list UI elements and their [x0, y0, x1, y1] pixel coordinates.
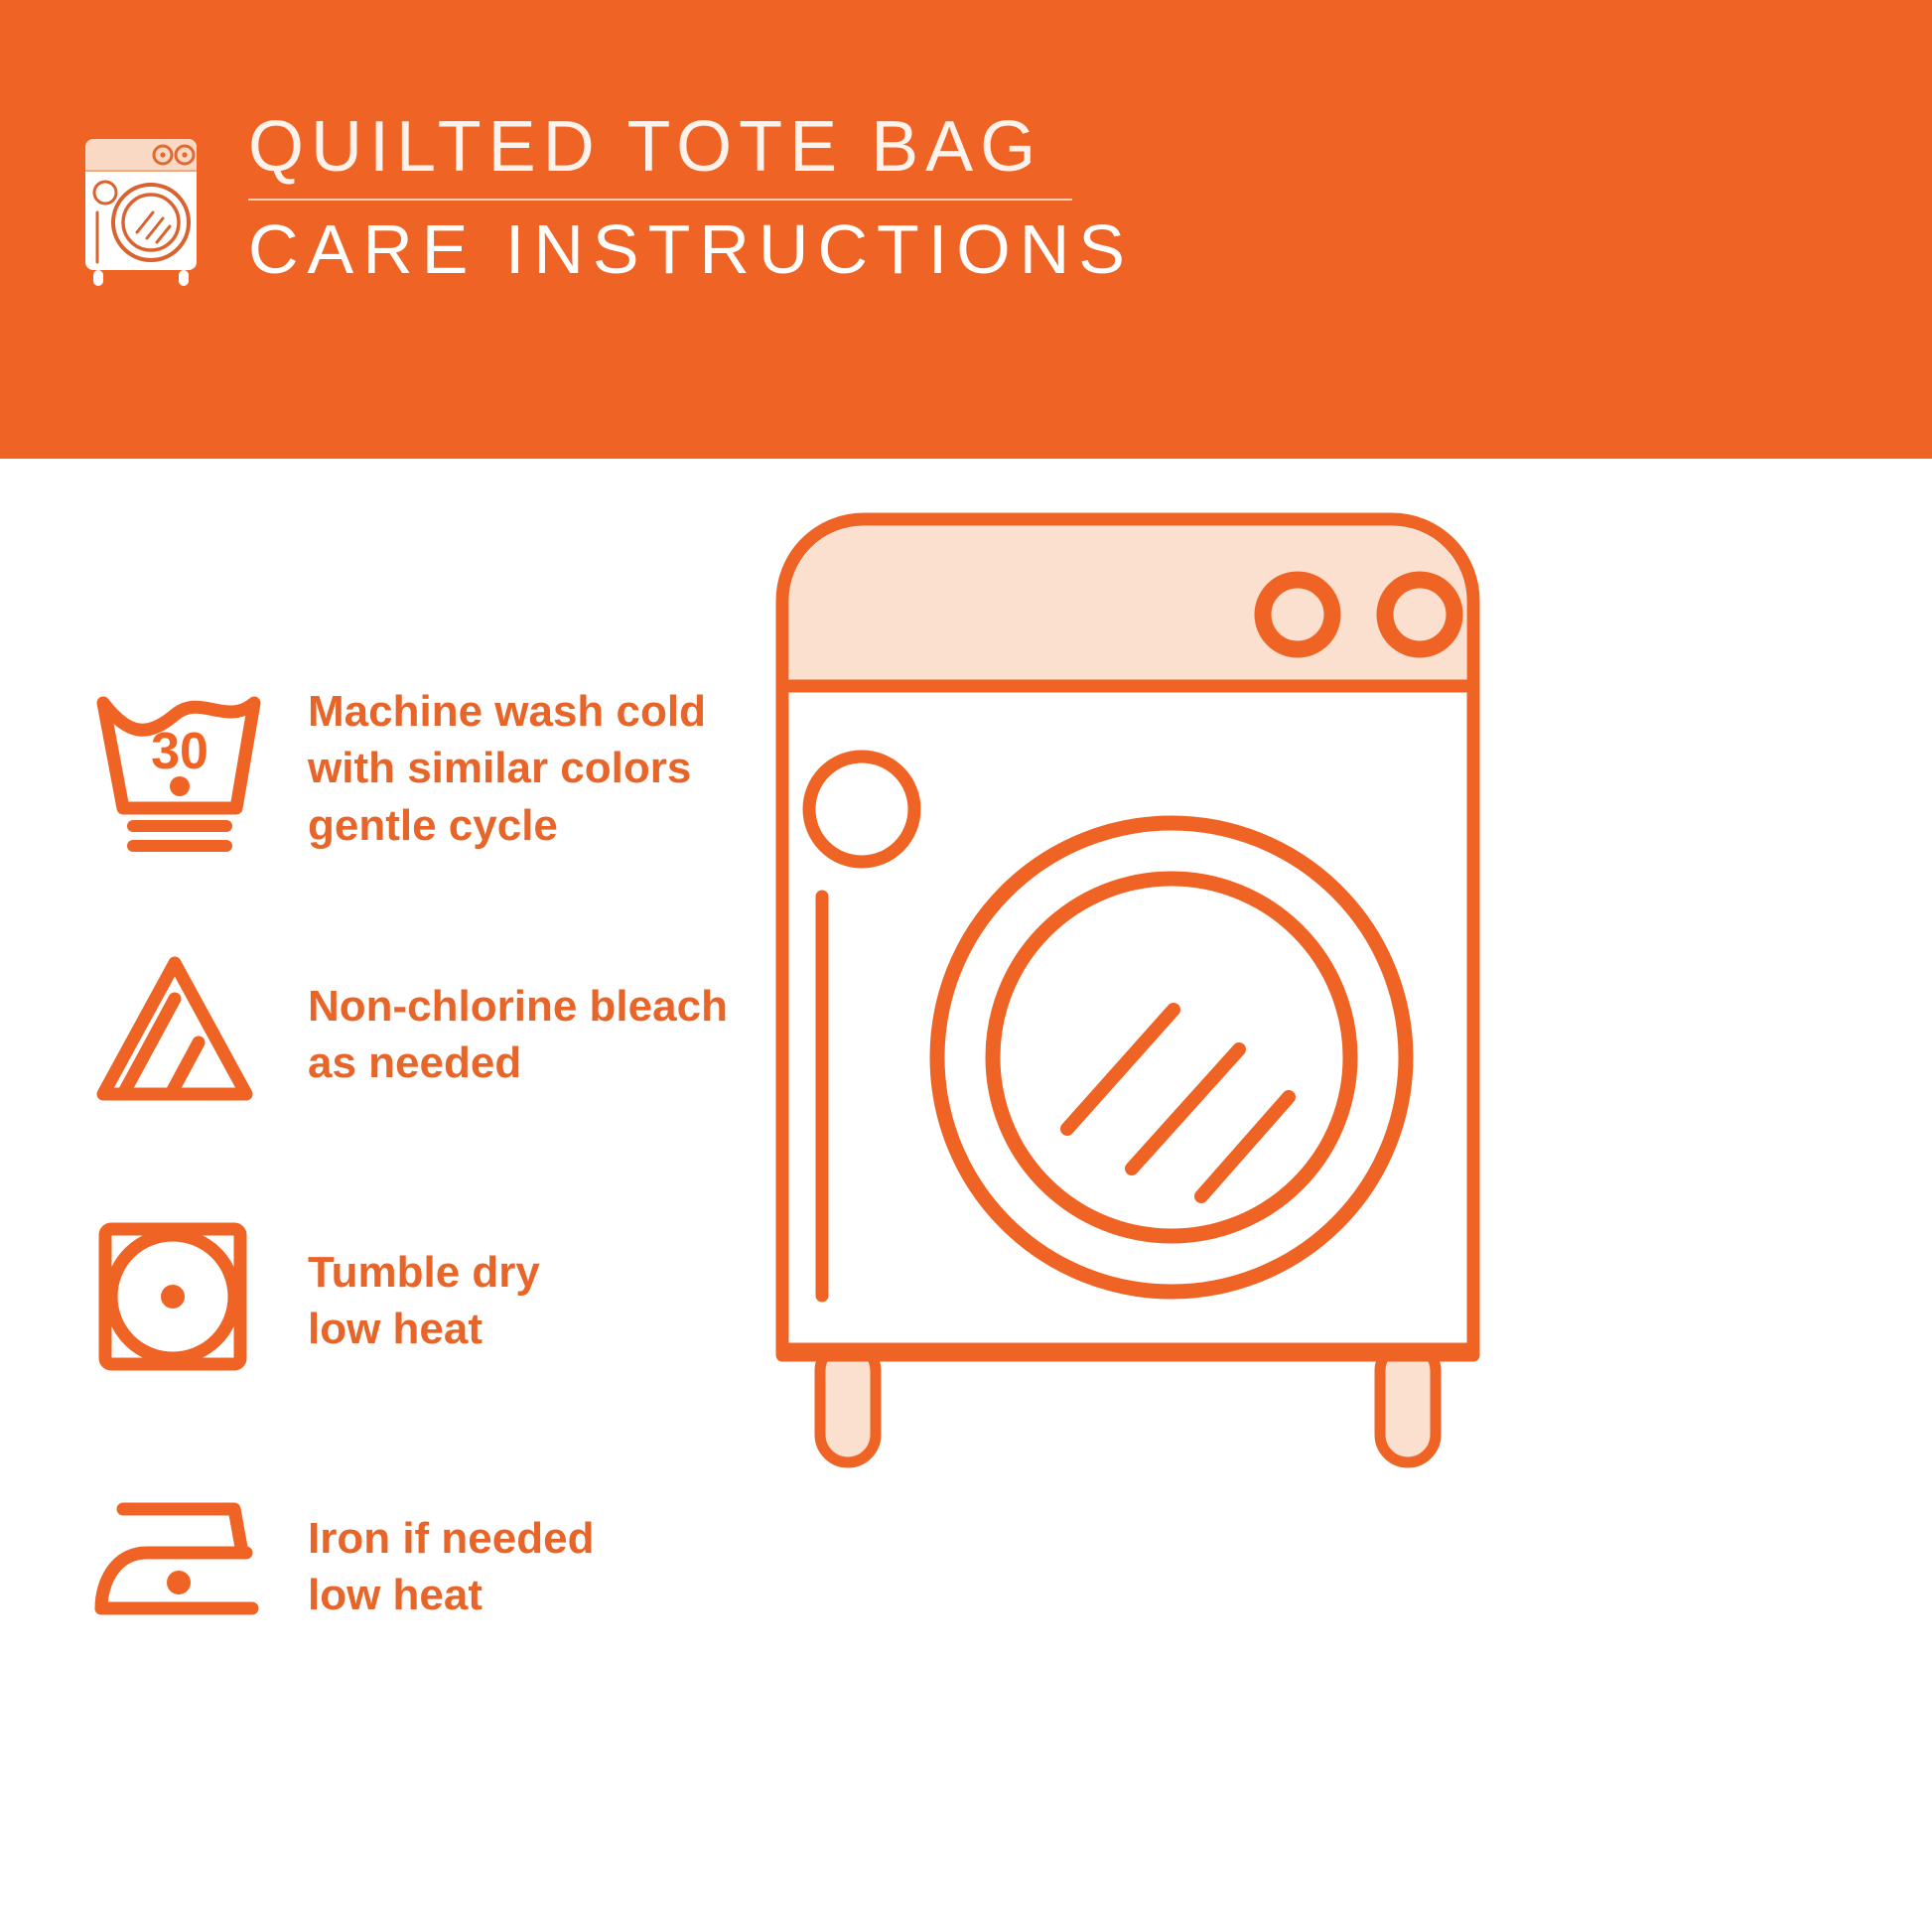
wash-basin-30-gentle-icon: 30	[87, 681, 272, 856]
tumble-dry-low-heat-icon	[87, 1213, 272, 1388]
page-title: QUILTED TOTE BAG	[248, 111, 1312, 183]
header-content: QUILTED TOTE BAG CARE INSTRUCTIONS	[71, 109, 1312, 308]
title-divider	[248, 199, 1072, 201]
list-item-label: Iron if needed low heat	[308, 1510, 933, 1623]
header-title-block: QUILTED TOTE BAG CARE INSTRUCTIONS	[248, 109, 1312, 284]
header-banner: QUILTED TOTE BAG CARE INSTRUCTIONS	[0, 0, 1932, 459]
control-panel	[789, 526, 1466, 686]
iron-low-heat-icon	[87, 1479, 272, 1654]
front-load-washing-machine-illustration	[764, 501, 1519, 1504]
non-chlorine-bleach-triangle-icon	[87, 947, 272, 1122]
page-subtitle: CARE INSTRUCTIONS	[248, 214, 1312, 284]
wash-temperature-label: 30	[151, 723, 208, 780]
washing-machine-icon	[71, 113, 220, 292]
